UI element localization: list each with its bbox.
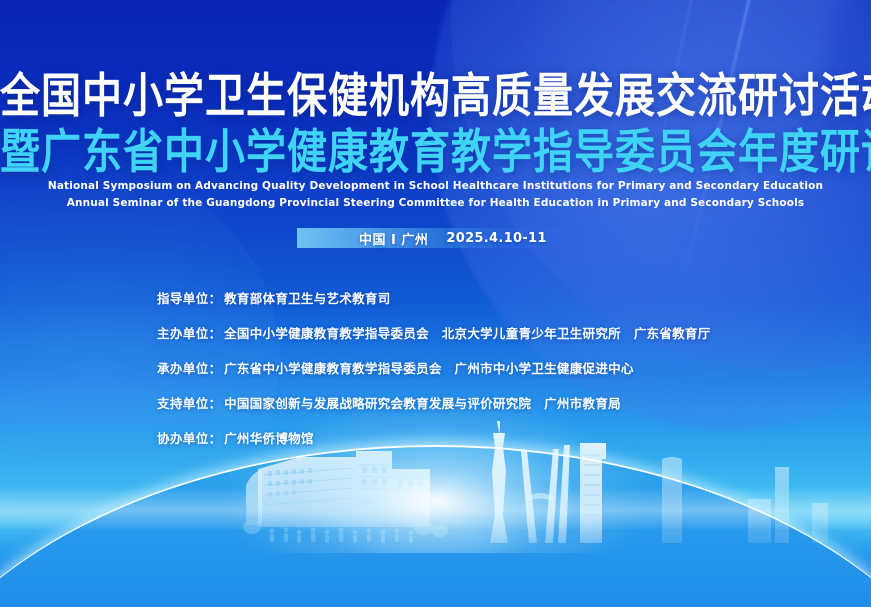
organization-value: 广州华侨博物馆 — [224, 428, 314, 447]
organization-row-guidance: 指导单位 ： 教育部体育卫生与艺术教育司 — [157, 288, 711, 307]
organizations-block: 指导单位 ： 教育部体育卫生与艺术教育司 主办单位 ： 全国中小学健康教育教学指… — [157, 288, 711, 463]
horizon-arc-line — [0, 445, 871, 607]
conference-poster: 全国中小学卫生保健机构高质量发展交流研讨活动 暨广东省中小学健康教育教学指导委员… — [0, 0, 871, 607]
organization-value: 全国中小学健康教育教学指导委员会 北京大学儿童青少年卫生研究所 广东省教育厅 — [224, 323, 710, 342]
organization-label: 承办单位 — [157, 358, 209, 377]
organization-label: 支持单位 — [157, 393, 209, 412]
event-location: 中国 I 广州 — [359, 229, 428, 248]
organization-colon: ： — [209, 428, 222, 447]
organization-value: 教育部体育卫生与艺术教育司 — [224, 288, 390, 307]
event-info-badge-content: 中国 I 广州 2025.4.10-11 — [359, 229, 547, 248]
organization-row-coorganizer: 协办单位 ： 广州华侨博物馆 — [157, 428, 711, 447]
english-subtitle-line-1: National Symposium on Advancing Quality … — [0, 178, 871, 195]
event-date: 2025.4.10-11 — [446, 231, 546, 246]
organization-value: 中国国家创新与发展战略研究会教育发展与评价研究院 广州市教育局 — [224, 393, 621, 412]
organization-label: 协办单位 — [157, 428, 209, 447]
page-title-primary: 全国中小学卫生保健机构高质量发展交流研讨活动 — [0, 72, 871, 122]
organization-row-support: 支持单位 ： 中国国家创新与发展战略研究会教育发展与评价研究院 广州市教育局 — [157, 393, 711, 412]
organization-colon: ： — [209, 358, 222, 377]
page-title-secondary: 暨广东省中小学健康教育教学指导委员会年度研讨活动 — [0, 128, 871, 178]
english-subtitle-line-2: Annual Seminar of the Guangdong Provinci… — [0, 195, 871, 212]
organization-colon: ： — [209, 393, 222, 412]
organization-colon: ： — [209, 323, 222, 342]
organization-row-organizer: 承办单位 ： 广东省中小学健康教育教学指导委员会 广州市中小学卫生健康促进中心 — [157, 358, 711, 377]
organization-value: 广东省中小学健康教育教学指导委员会 广州市中小学卫生健康促进中心 — [224, 358, 634, 377]
organization-row-host: 主办单位 ： 全国中小学健康教育教学指导委员会 北京大学儿童青少年卫生研究所 广… — [157, 323, 711, 342]
organization-label: 主办单位 — [157, 323, 209, 342]
english-subtitle-group: National Symposium on Advancing Quality … — [0, 178, 871, 212]
event-info-badge: 中国 I 广州 2025.4.10-11 — [297, 228, 572, 248]
organization-label: 指导单位 — [157, 288, 209, 307]
organization-colon: ： — [209, 288, 222, 307]
title-group: 全国中小学卫生保健机构高质量发展交流研讨活动 暨广东省中小学健康教育教学指导委员… — [0, 72, 871, 171]
